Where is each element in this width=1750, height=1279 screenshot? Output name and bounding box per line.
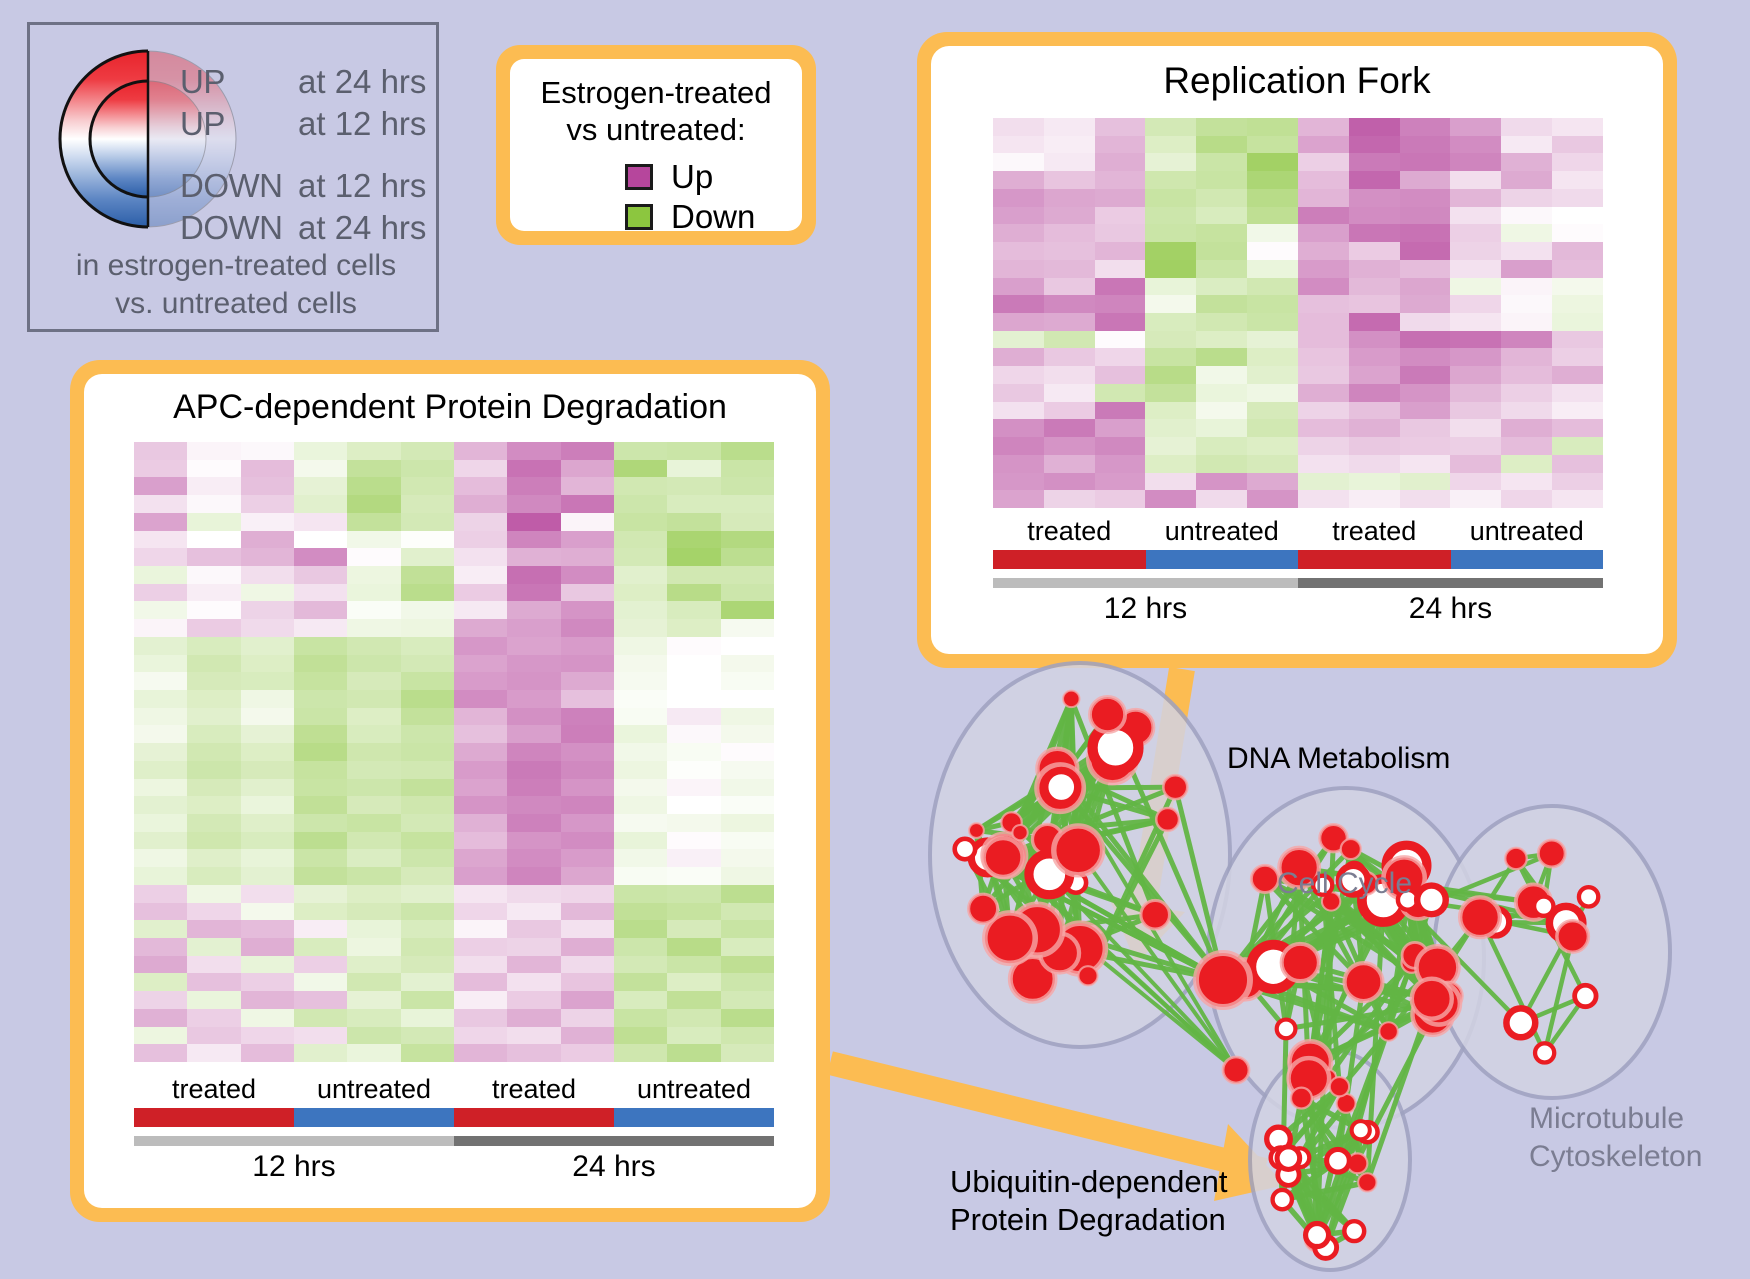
heatmap-cell <box>993 331 1044 349</box>
heatmap-cell <box>1552 224 1603 242</box>
heatmap-cell <box>614 1044 667 1062</box>
heatmap-cell <box>134 477 187 495</box>
network-node[interactable] <box>1156 808 1179 831</box>
heatmap-cell <box>1450 437 1501 455</box>
heatmap-cell <box>134 566 187 584</box>
network-node[interactable] <box>1417 886 1446 915</box>
network-node[interactable] <box>1277 1020 1296 1039</box>
heatmap-cell <box>241 832 294 850</box>
heatmap-cell <box>993 260 1044 278</box>
network-node[interactable] <box>1535 1043 1554 1062</box>
heatmap-cell <box>187 956 240 974</box>
heatmap-cell <box>134 1009 187 1027</box>
heatmap-cell <box>294 566 347 584</box>
heatmap-cell <box>561 814 614 832</box>
network-node[interactable] <box>1344 1221 1364 1241</box>
condition-bar-untreated-24h <box>1451 550 1604 569</box>
heatmap-cell <box>401 761 454 779</box>
network-node[interactable] <box>1054 826 1103 875</box>
heatmap-cell <box>721 743 774 761</box>
heatmap-cell <box>401 796 454 814</box>
heatmap-cell <box>1145 171 1196 189</box>
replication-fork-heatmap <box>993 118 1603 508</box>
heatmap-cell <box>561 1027 614 1045</box>
network-node[interactable] <box>1163 775 1187 799</box>
heatmap-cell <box>561 796 614 814</box>
condition-label: untreated <box>614 1074 774 1105</box>
condition-label: treated <box>1298 516 1451 547</box>
heatmap-cell <box>1196 473 1247 491</box>
heatmap-cell <box>1095 224 1146 242</box>
network-node[interactable] <box>1078 966 1097 985</box>
heatmap-cell <box>1552 490 1603 508</box>
network-node[interactable] <box>969 823 984 838</box>
network-node[interactable] <box>1341 839 1361 859</box>
heatmap-cell <box>614 1009 667 1027</box>
heatmap-cell <box>1095 490 1146 508</box>
heatmap-cell <box>1044 402 1095 420</box>
heatmap-cell <box>294 725 347 743</box>
network-node[interactable] <box>1277 1147 1300 1170</box>
heatmap-cell <box>1196 331 1247 349</box>
heatmap-cell <box>1247 171 1298 189</box>
heatmap-cell <box>614 814 667 832</box>
heatmap-cell <box>347 708 400 726</box>
network-node[interactable] <box>1063 691 1080 708</box>
heatmap-cell <box>1349 455 1400 473</box>
heatmap-cell <box>561 761 614 779</box>
heatmap-cell <box>614 708 667 726</box>
heatmap-cell <box>667 991 720 1009</box>
network-node[interactable] <box>1251 865 1278 892</box>
heatmap-cell <box>1095 136 1146 154</box>
heatmap-cell <box>1552 384 1603 402</box>
heatmap-cell <box>241 725 294 743</box>
network-node[interactable] <box>1196 953 1250 1007</box>
heatmap-cell <box>614 761 667 779</box>
heatmap-cell <box>134 743 187 761</box>
network-node[interactable] <box>1273 1190 1292 1209</box>
heatmap-cell <box>1349 242 1400 260</box>
heatmap-cell <box>1145 437 1196 455</box>
heatmap-cell <box>1450 260 1501 278</box>
heatmap-cell <box>187 460 240 478</box>
heatmap-cell <box>1095 384 1146 402</box>
heatmap-cell <box>667 672 720 690</box>
network-node[interactable] <box>955 839 975 859</box>
heatmap-cell <box>1400 207 1451 225</box>
heatmap-cell <box>1450 171 1501 189</box>
heatmap-cell <box>347 725 400 743</box>
heatmap-cell <box>294 920 347 938</box>
heatmap-cell <box>561 477 614 495</box>
heatmap-cell <box>294 867 347 885</box>
heatmap-cell <box>721 991 774 1009</box>
heatmap-cell <box>1196 455 1247 473</box>
heatmap-cell <box>667 938 720 956</box>
heatmap-cell <box>1044 207 1095 225</box>
heatmap-cell <box>1247 384 1298 402</box>
heatmap-cell <box>187 885 240 903</box>
replication-fork-axis: treated untreated treated untreated 12 h <box>993 516 1603 626</box>
heatmap-cell <box>507 655 560 673</box>
heatmap-cell <box>993 118 1044 136</box>
network-node[interactable] <box>1090 697 1125 732</box>
heatmap-cell <box>1501 278 1552 296</box>
network-node[interactable] <box>1352 1121 1370 1139</box>
heatmap-cell <box>294 832 347 850</box>
heatmap-cell <box>187 903 240 921</box>
heatmap-cell <box>1298 153 1349 171</box>
heatmap-cell <box>1400 366 1451 384</box>
heatmap-cell <box>667 779 720 797</box>
heatmap-cell <box>1400 384 1451 402</box>
heatmap-cell <box>401 832 454 850</box>
heatmap-cell <box>1298 260 1349 278</box>
heatmap-cell <box>614 584 667 602</box>
network-node[interactable] <box>1534 897 1553 916</box>
heatmap-cell <box>507 973 560 991</box>
heatmap-cell <box>993 348 1044 366</box>
heatmap-cell <box>1400 331 1451 349</box>
heatmap-cell <box>347 566 400 584</box>
heatmap-cell <box>1349 295 1400 313</box>
heatmap-cell <box>1552 260 1603 278</box>
heatmap-cell <box>1552 348 1603 366</box>
heatmap-cell <box>1196 278 1247 296</box>
heatmap-cell <box>1196 419 1247 437</box>
network-node[interactable] <box>1557 921 1589 953</box>
heatmap-cell <box>187 761 240 779</box>
heatmap-cell <box>1196 224 1247 242</box>
heatmap-cell <box>1450 384 1501 402</box>
legend-direction: UP <box>180 63 298 101</box>
heatmap-cell <box>1349 473 1400 491</box>
heatmap-cell <box>187 601 240 619</box>
heatmap-cell <box>347 849 400 867</box>
heatmap-cell <box>721 885 774 903</box>
heatmap-cell <box>1501 490 1552 508</box>
heatmap-cell <box>1044 171 1095 189</box>
heatmap-cell <box>241 601 294 619</box>
network-node[interactable] <box>1379 1022 1397 1040</box>
network-node[interactable] <box>1012 825 1027 840</box>
heatmap-cell <box>993 419 1044 437</box>
network-node[interactable] <box>1412 979 1452 1019</box>
heatmap-cell <box>1450 153 1501 171</box>
heatmap-cell <box>241 920 294 938</box>
heatmap-cell <box>241 956 294 974</box>
heatmap-cell <box>507 761 560 779</box>
heatmap-cell <box>614 672 667 690</box>
heatmap-cell <box>667 849 720 867</box>
heatmap-cell <box>1298 189 1349 207</box>
heatmap-cell <box>667 973 720 991</box>
cluster-label-ubiquitin-degradation: Ubiquitin-dependent Protein Degradation <box>950 1163 1228 1239</box>
network-node[interactable] <box>969 894 998 923</box>
heatmap-cell <box>1095 419 1146 437</box>
heatmap-cell <box>294 796 347 814</box>
network-node[interactable] <box>1282 944 1319 981</box>
heatmap-cell <box>1044 473 1095 491</box>
heatmap-cell <box>454 460 507 478</box>
apc-degradation-axis: treated untreated treated untreated 12 h <box>134 1074 774 1184</box>
condition-bar-treated-12h <box>993 550 1146 569</box>
cluster-label-line1: Microtubule <box>1529 1100 1702 1138</box>
heatmap-cell <box>721 460 774 478</box>
heatmap-cell <box>667 725 720 743</box>
network-node[interactable] <box>1306 1224 1329 1247</box>
heatmap-cell <box>667 1044 720 1062</box>
heatmap-cell <box>1400 136 1451 154</box>
heatmap-cell <box>561 832 614 850</box>
heatmap-cell <box>1400 437 1451 455</box>
key-label-up: Up <box>671 158 713 196</box>
heatmap-cell <box>1145 278 1196 296</box>
heatmap-cell <box>1145 224 1196 242</box>
heatmap-cell <box>1450 207 1501 225</box>
heatmap-cell <box>1349 136 1400 154</box>
heatmap-cell <box>347 796 400 814</box>
heatmap-cell <box>1501 366 1552 384</box>
legend-row: UP at 12 hrs <box>180 103 438 145</box>
network-node[interactable] <box>1345 963 1383 1001</box>
heatmap-cell <box>187 814 240 832</box>
heatmap-cell <box>561 495 614 513</box>
heatmap-cell <box>347 814 400 832</box>
heatmap-cell <box>1247 419 1298 437</box>
heatmap-cell <box>1145 402 1196 420</box>
heatmap-cell <box>507 814 560 832</box>
heatmap-cell <box>401 708 454 726</box>
heatmap-cell <box>1095 278 1146 296</box>
heatmap-cell <box>187 849 240 867</box>
heatmap-cell <box>241 442 294 460</box>
heatmap-cell <box>241 849 294 867</box>
heatmap-cell <box>187 672 240 690</box>
heatmap-cell <box>1095 295 1146 313</box>
heatmap-cell <box>1044 118 1095 136</box>
heatmap-cell <box>1247 295 1298 313</box>
heatmap-cell <box>614 513 667 531</box>
heatmap-cell <box>561 566 614 584</box>
heatmap-cell <box>401 637 454 655</box>
key-title-line1: Estrogen-treated <box>510 75 802 112</box>
condition-label: treated <box>454 1074 614 1105</box>
network-node[interactable] <box>1327 1149 1350 1172</box>
heatmap-cell <box>507 743 560 761</box>
heatmap-cell <box>667 619 720 637</box>
replication-fork-inner: Replication Fork treated untreated treat… <box>931 46 1663 654</box>
heatmap-cell <box>993 295 1044 313</box>
heatmap-cell <box>561 779 614 797</box>
network-node[interactable] <box>1330 1077 1349 1096</box>
heatmap-cell <box>614 1027 667 1045</box>
network-node[interactable] <box>1505 848 1527 870</box>
heatmap-cell <box>401 690 454 708</box>
cluster-label-microtubule-cytoskeleton: Microtubule Cytoskeleton <box>1529 1100 1702 1175</box>
heatmap-cell <box>401 814 454 832</box>
timepoint-label: 12 hrs <box>993 592 1298 626</box>
heatmap-cell <box>241 513 294 531</box>
network-node[interactable] <box>1506 1008 1535 1037</box>
heatmap-cell <box>507 867 560 885</box>
key-panel-title: Estrogen-treated vs untreated: <box>510 75 802 148</box>
heatmap-cell <box>1095 207 1146 225</box>
heatmap-cell <box>1501 348 1552 366</box>
heatmap-cell <box>1501 384 1552 402</box>
heatmap-cell <box>1247 313 1298 331</box>
network-node[interactable] <box>1538 840 1565 867</box>
heatmap-cell <box>187 637 240 655</box>
heatmap-cell <box>1095 242 1146 260</box>
heatmap-cell <box>667 637 720 655</box>
heatmap-cell <box>1501 189 1552 207</box>
heatmap-cell <box>401 1044 454 1062</box>
heatmap-cell <box>1501 419 1552 437</box>
heatmap-cell <box>1349 278 1400 296</box>
heatmap-cell <box>1196 490 1247 508</box>
heatmap-cell <box>1400 242 1451 260</box>
heatmap-cell <box>1552 402 1603 420</box>
heatmap-cell <box>241 1044 294 1062</box>
heatmap-cell <box>1298 313 1349 331</box>
heatmap-cell <box>1298 366 1349 384</box>
heatmap-cell <box>1044 189 1095 207</box>
heatmap-cell <box>454 566 507 584</box>
condition-bar-treated-12h <box>134 1108 294 1127</box>
network-node[interactable] <box>1291 1088 1312 1109</box>
heatmap-cell <box>347 956 400 974</box>
heatmap-cell <box>1298 402 1349 420</box>
heatmap-cell <box>241 495 294 513</box>
heatmap-cell <box>1095 331 1146 349</box>
heatmap-cell <box>1044 419 1095 437</box>
heatmap-cell <box>1145 419 1196 437</box>
heatmap-cell <box>401 477 454 495</box>
heatmap-cell <box>1298 348 1349 366</box>
heatmap-cell <box>1400 118 1451 136</box>
heatmap-cell <box>401 920 454 938</box>
heatmap-cell <box>614 566 667 584</box>
heatmap-cell <box>454 655 507 673</box>
heatmap-cell <box>1501 437 1552 455</box>
heatmap-cell <box>1349 313 1400 331</box>
heatmap-cell <box>294 903 347 921</box>
heatmap-cell <box>1145 455 1196 473</box>
heatmap-cell <box>561 619 614 637</box>
heatmap-cell <box>1247 402 1298 420</box>
heatmap-cell <box>454 548 507 566</box>
heatmap-cell <box>454 1009 507 1027</box>
heatmap-cell <box>347 619 400 637</box>
condition-bar-treated-24h <box>454 1108 614 1127</box>
heatmap-cell <box>1501 402 1552 420</box>
heatmap-cell <box>993 473 1044 491</box>
heatmap-cell <box>1145 136 1196 154</box>
heatmap-cell <box>721 690 774 708</box>
heatmap-cell <box>561 531 614 549</box>
heatmap-cell <box>134 1027 187 1045</box>
heatmap-cell <box>241 708 294 726</box>
network-node[interactable] <box>1223 1057 1249 1083</box>
heatmap-cell <box>1095 473 1146 491</box>
heatmap-cell <box>347 655 400 673</box>
heatmap-cell <box>401 672 454 690</box>
heatmap-cell <box>561 973 614 991</box>
heatmap-cell <box>1552 207 1603 225</box>
network-node[interactable] <box>984 838 1023 877</box>
heatmap-cell <box>401 495 454 513</box>
heatmap-cell <box>1400 171 1451 189</box>
heatmap-cell <box>507 566 560 584</box>
network-node[interactable] <box>1358 1173 1376 1191</box>
heatmap-cell <box>1349 189 1400 207</box>
network-node[interactable] <box>1579 887 1598 906</box>
heatmap-cell <box>134 973 187 991</box>
heatmap-cell <box>294 477 347 495</box>
heatmap-cell <box>614 779 667 797</box>
heatmap-cell <box>401 566 454 584</box>
heatmap-cell <box>1349 207 1400 225</box>
heatmap-cell <box>1196 437 1247 455</box>
heatmap-cell <box>454 779 507 797</box>
heatmap-cell <box>401 885 454 903</box>
network-node[interactable] <box>1045 771 1078 804</box>
heatmap-cell <box>721 761 774 779</box>
heatmap-cell <box>1552 366 1603 384</box>
heatmap-cell <box>993 490 1044 508</box>
heatmap-cell <box>721 725 774 743</box>
timepoint-bar-24h <box>454 1136 774 1146</box>
legend-row: UP at 24 hrs <box>180 61 438 103</box>
timepoint-label: 12 hrs <box>134 1150 454 1184</box>
heatmap-cell <box>614 477 667 495</box>
heatmap-cell <box>507 601 560 619</box>
heatmap-cell <box>667 814 720 832</box>
heatmap-cell <box>507 637 560 655</box>
heatmap-cell <box>1450 295 1501 313</box>
heatmap-cell <box>187 920 240 938</box>
heatmap-cell <box>347 1027 400 1045</box>
heatmap-cell <box>1501 224 1552 242</box>
heatmap-cell <box>993 171 1044 189</box>
heatmap-cell <box>1552 331 1603 349</box>
network-node[interactable] <box>1141 900 1170 929</box>
heatmap-cell <box>993 242 1044 260</box>
heatmap-cell <box>1044 313 1095 331</box>
heatmap-cell <box>347 973 400 991</box>
network-node[interactable] <box>1460 897 1500 937</box>
heatmap-cell <box>1196 207 1247 225</box>
heatmap-cell <box>294 531 347 549</box>
heatmap-cell <box>294 779 347 797</box>
heatmap-cell <box>347 920 400 938</box>
gradient-circle-legend: UP at 24 hrs UP at 12 hrs DOWN at 12 hrs… <box>27 22 439 332</box>
heatmap-cell <box>134 796 187 814</box>
heatmap-cell <box>507 495 560 513</box>
heatmap-cell <box>1400 260 1451 278</box>
heatmap-cell <box>507 672 560 690</box>
heatmap-cell <box>454 796 507 814</box>
heatmap-cell <box>1552 118 1603 136</box>
heatmap-cell <box>507 956 560 974</box>
heatmap-cell <box>241 637 294 655</box>
heatmap-cell <box>134 761 187 779</box>
network-node[interactable] <box>1575 985 1596 1006</box>
heatmap-cell <box>134 956 187 974</box>
key-item-up: Up <box>625 157 755 197</box>
